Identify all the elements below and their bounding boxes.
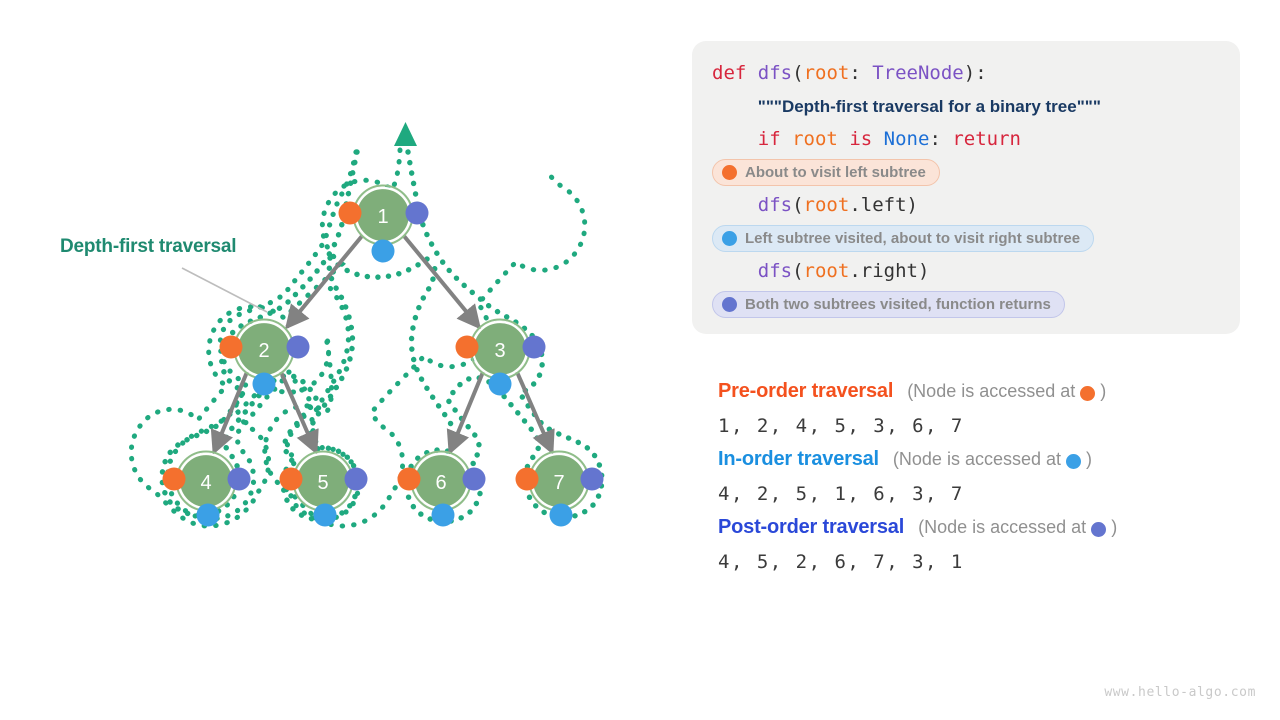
call-right-var: root bbox=[804, 260, 850, 282]
tree-node-1-label: 1 bbox=[377, 206, 388, 228]
function-name: dfs bbox=[758, 62, 792, 84]
node-3-pre-dot bbox=[456, 336, 479, 359]
postorder-sequence: 4, 5, 2, 6, 7, 3, 1 bbox=[718, 551, 1258, 573]
inorder-note: (Node is accessed at ) bbox=[893, 449, 1092, 470]
preorder-note-close: ) bbox=[1100, 381, 1106, 402]
tree-node-7-label: 7 bbox=[553, 472, 564, 494]
result-block-postorder: Post-order traversal (Node is accessed a… bbox=[718, 516, 1258, 573]
node-1-in-dot bbox=[372, 240, 395, 263]
purple-blue-dot-icon bbox=[722, 297, 737, 312]
keyword-is: is bbox=[849, 128, 872, 150]
node-4-pre-dot bbox=[163, 468, 186, 491]
postorder-title: Post-order traversal bbox=[718, 516, 904, 539]
guard-var-root: root bbox=[792, 128, 838, 150]
code-line-signature: def dfs(root: TreeNode): bbox=[712, 57, 1220, 90]
postorder-heading-row: Post-order traversal (Node is accessed a… bbox=[718, 516, 1258, 546]
tree-node-3-label: 3 bbox=[494, 340, 505, 362]
node-5-in-dot bbox=[314, 504, 337, 527]
node-1-pre-dot bbox=[339, 202, 362, 225]
badge-in-label: Left subtree visited, about to visit rig… bbox=[745, 230, 1080, 247]
node-6-pre-dot bbox=[398, 468, 421, 491]
inorder-note-close: ) bbox=[1086, 449, 1092, 470]
badge-row-in: Left subtree visited, about to visit rig… bbox=[712, 222, 1220, 255]
traversal-results: Pre-order traversal (Node is accessed at… bbox=[718, 380, 1258, 584]
preorder-note-text: (Node is accessed at bbox=[907, 381, 1075, 402]
call-left-fn: dfs bbox=[758, 194, 792, 216]
orange-dot-icon bbox=[722, 165, 737, 180]
guard-colon: : bbox=[929, 128, 952, 150]
light-blue-dot-icon bbox=[722, 231, 737, 246]
inorder-title: In-order traversal bbox=[718, 448, 879, 471]
tree-node-4-label: 4 bbox=[200, 472, 211, 494]
code-line-call-left: dfs(root.left) bbox=[712, 189, 1220, 222]
call-right-attr: .right bbox=[849, 260, 918, 282]
keyword-def: def bbox=[712, 62, 746, 84]
node-5-post-dot bbox=[345, 468, 368, 491]
call-left-paren-open: ( bbox=[792, 194, 803, 216]
call-right-fn: dfs bbox=[758, 260, 792, 282]
watermark: www.hello-algo.com bbox=[1104, 685, 1256, 700]
edge-1-2 bbox=[287, 236, 362, 327]
result-block-preorder: Pre-order traversal (Node is accessed at… bbox=[718, 380, 1258, 437]
node-5-pre-dot bbox=[280, 468, 303, 491]
code-card: def dfs(root: TreeNode): """Depth-first … bbox=[692, 41, 1240, 334]
node-4-in-dot bbox=[197, 504, 220, 527]
signature-end-colon: : bbox=[975, 62, 986, 84]
tree-node-7[interactable]: 7 bbox=[516, 452, 604, 527]
postorder-note: (Node is accessed at ) bbox=[918, 517, 1117, 538]
node-2-post-dot bbox=[287, 336, 310, 359]
node-4-post-dot bbox=[228, 468, 251, 491]
badge-both-visited: Both two subtrees visited, function retu… bbox=[712, 291, 1065, 318]
inorder-dot-icon bbox=[1066, 454, 1081, 469]
code-line-docstring: """Depth-first traversal for a binary tr… bbox=[712, 90, 1220, 123]
badge-pre-label: About to visit left subtree bbox=[745, 164, 926, 181]
code-line-guard: if root is None: return bbox=[712, 123, 1220, 156]
param-root: root bbox=[804, 62, 850, 84]
paren-open: ( bbox=[792, 62, 803, 84]
node-7-post-dot bbox=[581, 468, 604, 491]
param-colon: : bbox=[849, 62, 872, 84]
node-6-post-dot bbox=[463, 468, 486, 491]
literal-none: None bbox=[884, 128, 930, 150]
tree-node-5-label: 5 bbox=[317, 472, 328, 494]
depth-first-traversal-label: Depth-first traversal bbox=[60, 236, 236, 258]
node-2-in-dot bbox=[253, 373, 276, 396]
node-3-in-dot bbox=[489, 373, 512, 396]
preorder-sequence: 1, 2, 4, 5, 3, 6, 7 bbox=[718, 415, 1258, 437]
type-treenode: TreeNode bbox=[872, 62, 964, 84]
call-right-paren-close: ) bbox=[918, 260, 929, 282]
postorder-note-close: ) bbox=[1111, 517, 1117, 538]
badge-row-post: Both two subtrees visited, function retu… bbox=[712, 288, 1220, 321]
edge-1-3 bbox=[404, 236, 479, 327]
keyword-return: return bbox=[952, 128, 1021, 150]
call-left-attr: .left bbox=[849, 194, 906, 216]
inorder-sequence: 4, 2, 5, 1, 6, 3, 7 bbox=[718, 483, 1258, 505]
preorder-note: (Node is accessed at ) bbox=[907, 381, 1106, 402]
node-1-post-dot bbox=[406, 202, 429, 225]
tree-node-6-label: 6 bbox=[435, 472, 446, 494]
call-left-paren-close: ) bbox=[907, 194, 918, 216]
preorder-dot-icon bbox=[1080, 386, 1095, 401]
node-6-in-dot bbox=[432, 504, 455, 527]
code-line-call-right: dfs(root.right) bbox=[712, 255, 1220, 288]
call-left-var: root bbox=[804, 194, 850, 216]
badge-post-label: Both two subtrees visited, function retu… bbox=[745, 296, 1051, 313]
preorder-title: Pre-order traversal bbox=[718, 380, 893, 403]
inorder-heading-row: In-order traversal (Node is accessed at … bbox=[718, 448, 1258, 478]
badge-row-pre: About to visit left subtree bbox=[712, 156, 1220, 189]
paren-close: ) bbox=[964, 62, 975, 84]
call-right-paren-open: ( bbox=[792, 260, 803, 282]
badge-left-visited: Left subtree visited, about to visit rig… bbox=[712, 225, 1094, 252]
binary-tree-svg: 1 2 3 4 bbox=[0, 0, 680, 720]
tree-diagram-panel: 1 2 3 4 bbox=[0, 0, 680, 720]
keyword-if: if bbox=[758, 128, 781, 150]
postorder-note-text: (Node is accessed at bbox=[918, 517, 1086, 538]
postorder-dot-icon bbox=[1091, 522, 1106, 537]
annotation-pointer-line bbox=[182, 268, 267, 312]
result-block-inorder: In-order traversal (Node is accessed at … bbox=[718, 448, 1258, 505]
tree-node-2-label: 2 bbox=[258, 340, 269, 362]
triangle-up-icon bbox=[394, 122, 417, 146]
node-2-pre-dot bbox=[220, 336, 243, 359]
node-3-post-dot bbox=[523, 336, 546, 359]
edge-2-4 bbox=[214, 372, 247, 452]
node-7-pre-dot bbox=[516, 468, 539, 491]
badge-about-to-visit-left: About to visit left subtree bbox=[712, 159, 940, 186]
docstring-text: """Depth-first traversal for a binary tr… bbox=[758, 97, 1101, 116]
inorder-note-text: (Node is accessed at bbox=[893, 449, 1061, 470]
preorder-heading-row: Pre-order traversal (Node is accessed at… bbox=[718, 380, 1258, 410]
node-7-in-dot bbox=[550, 504, 573, 527]
